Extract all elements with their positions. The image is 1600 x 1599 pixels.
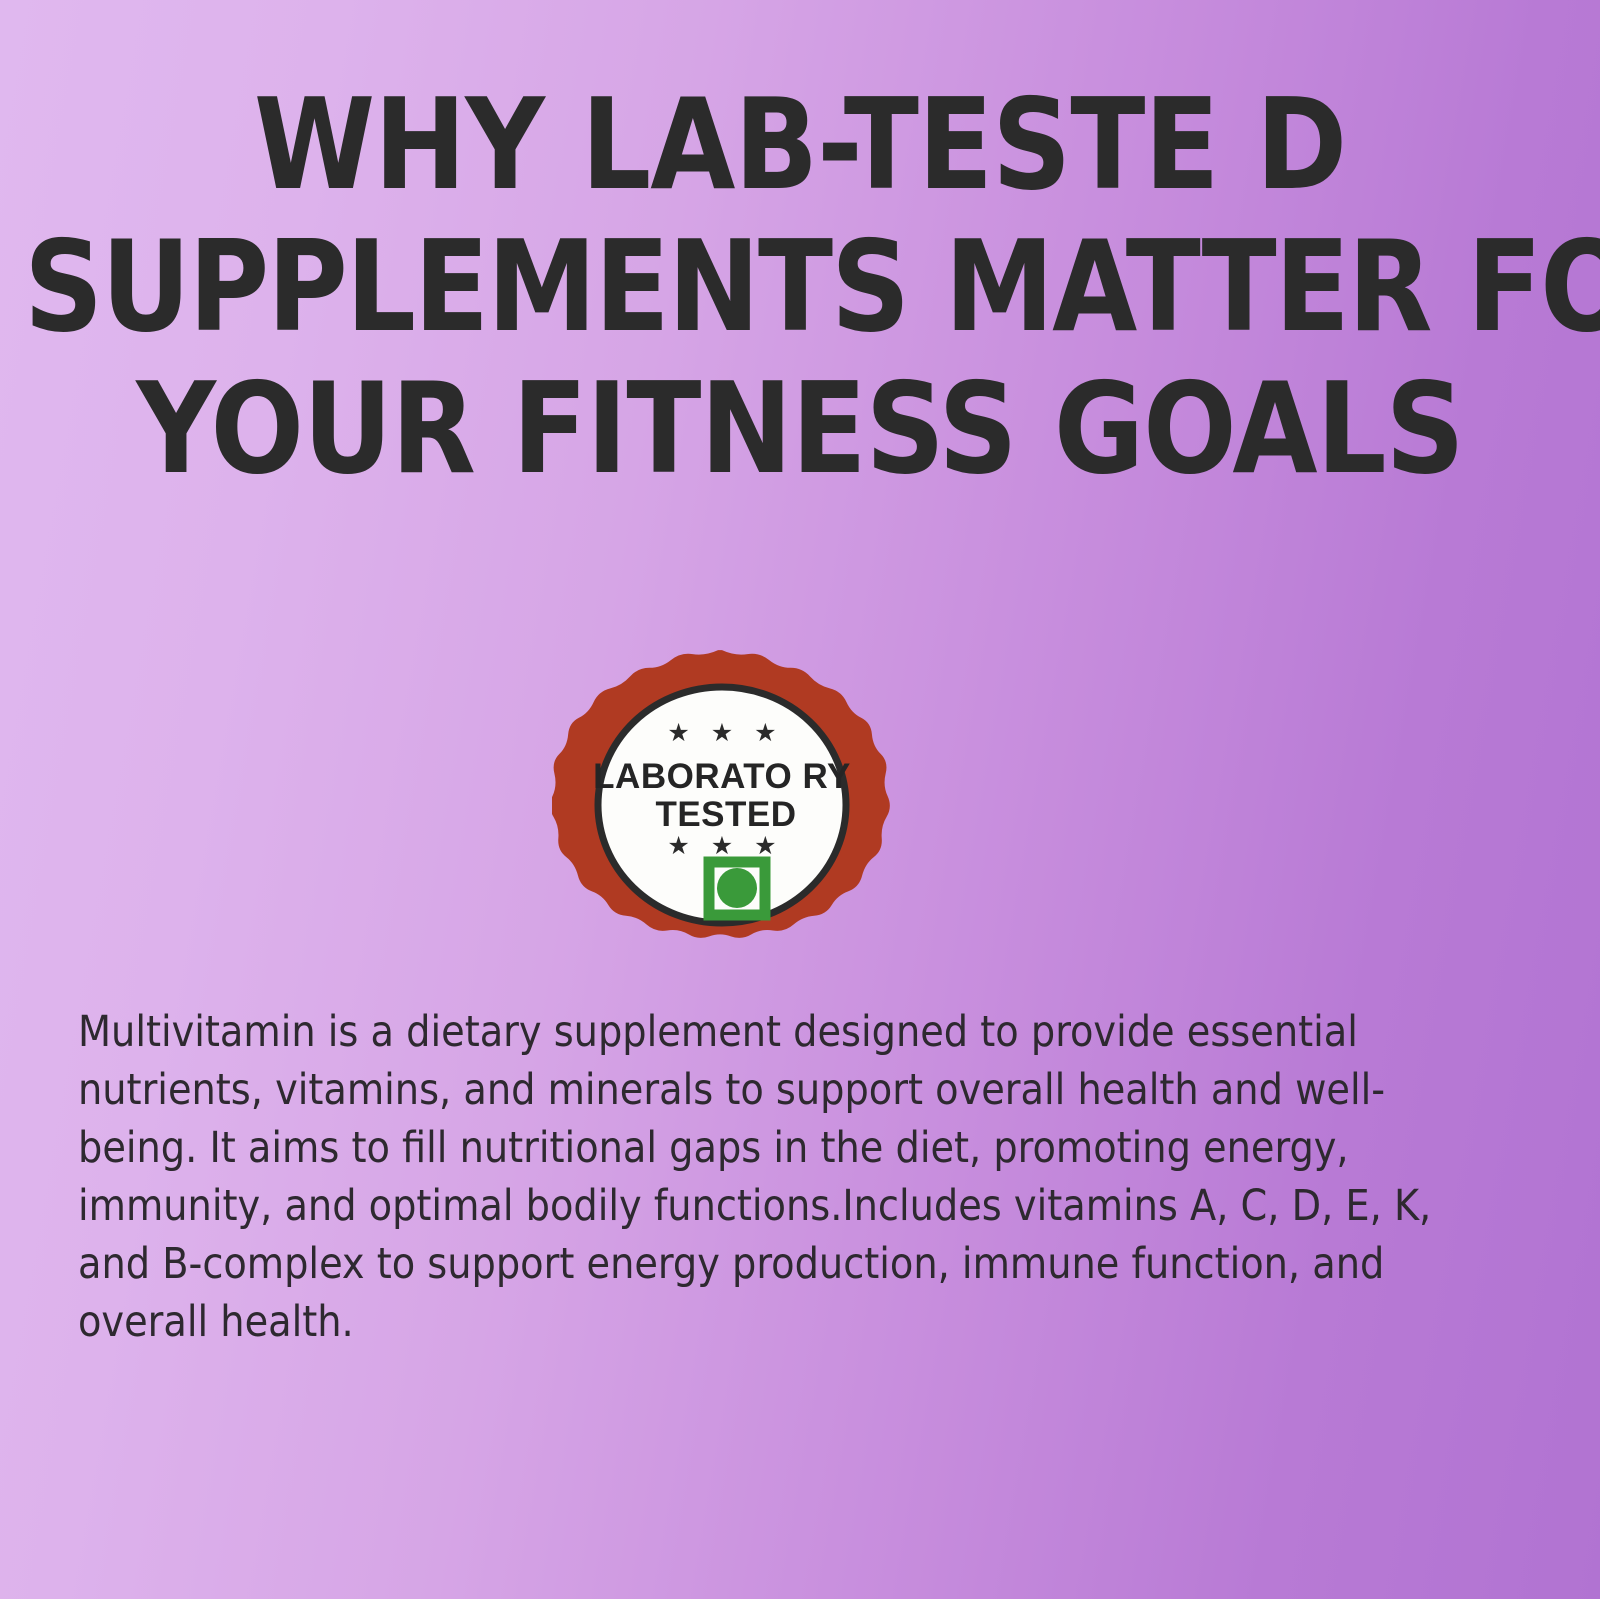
headline-line-2: SUPPLEMENTS MATTER FOR: [24, 216, 1576, 358]
badge-seal-icon: [552, 645, 892, 965]
body-paragraph: Multivitamin is a dietary supplement des…: [78, 1003, 1504, 1351]
headline-line-3: YOUR FITNESS GOALS: [24, 358, 1576, 500]
poster-canvas: WHY LAB-TESTE D SUPPLEMENTS MATTER FOR Y…: [0, 0, 1600, 1599]
body-description: Multivitamin is a dietary supplement des…: [78, 1003, 1518, 1351]
headline-line-1: WHY LAB-TESTE D: [24, 74, 1576, 216]
page-title: WHY LAB-TESTE D SUPPLEMENTS MATTER FOR Y…: [0, 74, 1600, 500]
laboratory-tested-badge: ★ ★ ★ LABORATO RY TESTED ★ ★ ★: [552, 645, 892, 965]
